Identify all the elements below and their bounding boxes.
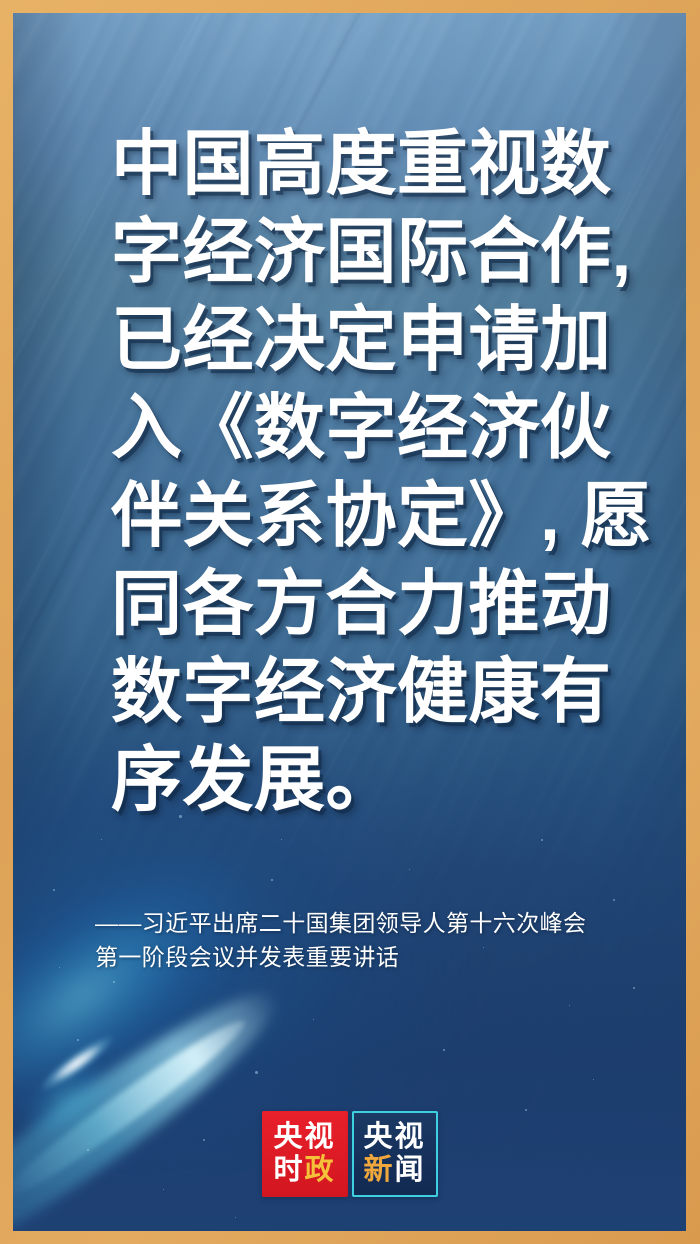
headline-line: 序发展。	[111, 737, 631, 825]
logo-xinwen-char-wen: 闻	[395, 1154, 426, 1186]
logo-cctv-shizheng[interactable]: 央视 时政	[262, 1111, 348, 1197]
poster-frame: 中国高度重视数 字经济国际合作, 已经决定申请加 入《数字经济伙 伴关系协定》,…	[0, 0, 700, 1244]
headline-line: 字经济国际合作,	[111, 209, 631, 297]
logo-row: 央视 时政 央视 新闻	[13, 1111, 686, 1197]
attribution: ——习近平出席二十国集团领导人第十六次峰会 第一阶段会议并发表重要讲话	[95, 906, 640, 974]
headline-line: 同各方合力推动	[111, 561, 631, 649]
headline-line: 数字经济健康有	[111, 649, 631, 737]
headline-line: 入《数字经济伙	[111, 385, 631, 473]
logo-shizheng-char-zheng: 政	[305, 1154, 336, 1186]
headline-line: 伴关系协定》, 愿	[111, 473, 631, 561]
logo-shizheng-row2: 时政	[273, 1154, 335, 1187]
headline: 中国高度重视数 字经济国际合作, 已经决定申请加 入《数字经济伙 伴关系协定》,…	[111, 121, 631, 825]
logo-xinwen-char-xin: 新	[363, 1154, 394, 1186]
logo-shizheng-row1: 央视	[273, 1121, 335, 1154]
attribution-line: ——习近平出席二十国集团领导人第十六次峰会	[95, 906, 640, 940]
attribution-line: 第一阶段会议并发表重要讲话	[95, 940, 640, 974]
logo-shizheng-char-shi: 时	[273, 1154, 304, 1186]
logo-xinwen-row1: 央视	[363, 1121, 425, 1154]
headline-line: 中国高度重视数	[111, 121, 631, 209]
poster-canvas: 中国高度重视数 字经济国际合作, 已经决定申请加 入《数字经济伙 伴关系协定》,…	[13, 13, 686, 1231]
headline-line: 已经决定申请加	[111, 297, 631, 385]
logo-xinwen-row2: 新闻	[363, 1154, 425, 1187]
logo-cctv-xinwen[interactable]: 央视 新闻	[352, 1111, 438, 1197]
